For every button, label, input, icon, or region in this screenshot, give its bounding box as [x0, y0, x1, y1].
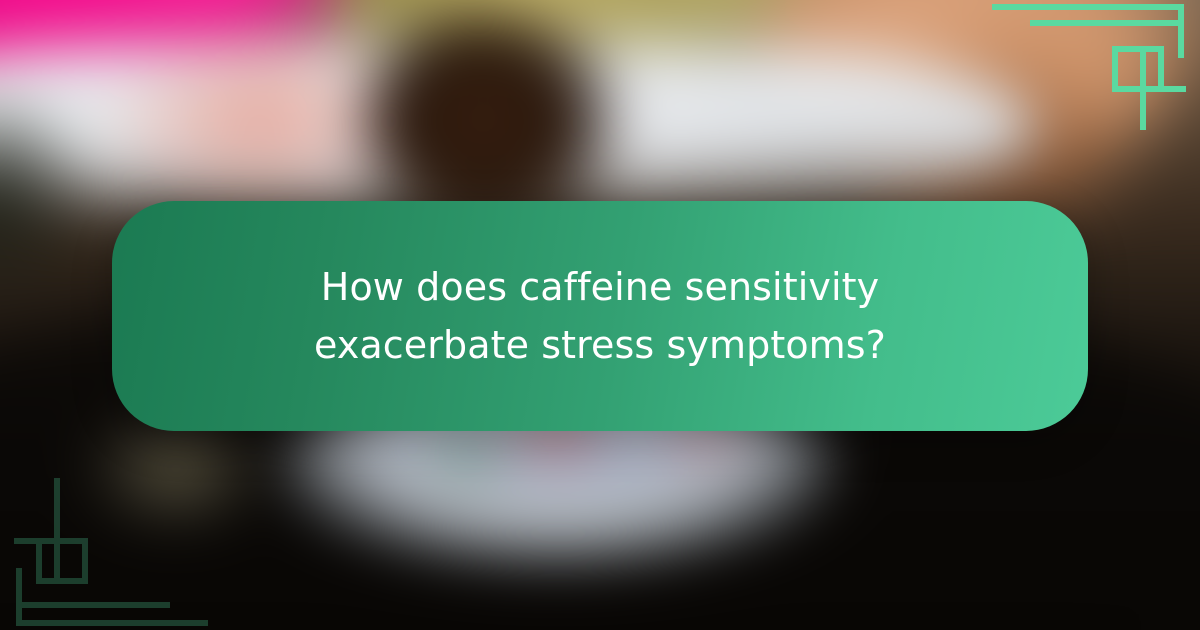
corner-square-bottom: [36, 578, 88, 584]
corner-elbow-horizontal: [1140, 86, 1186, 92]
corner-decoration-bottom-left: [0, 470, 230, 630]
question-text: How does caffeine sensitivity exacerbate…: [230, 258, 970, 374]
corner-square-left: [1112, 46, 1118, 92]
question-card: How does caffeine sensitivity exacerbate…: [112, 201, 1088, 431]
corner-square-top: [1112, 46, 1164, 52]
corner-line-vertical-drop: [54, 478, 60, 544]
corner-line-horizontal-outer: [992, 4, 1184, 10]
corner-line-horizontal-inner: [18, 602, 170, 608]
corner-elbow-vertical: [54, 538, 60, 584]
corner-square-left: [36, 538, 42, 584]
corner-square-right: [82, 538, 88, 584]
corner-line-vertical-outer: [16, 568, 22, 626]
corner-line-horizontal-inner: [1030, 20, 1182, 26]
corner-line-vertical-drop: [1140, 86, 1146, 130]
corner-line-vertical-outer: [1178, 4, 1184, 58]
screenshot-canvas: How does caffeine sensitivity exacerbate…: [0, 0, 1200, 630]
corner-decoration-top-right: [970, 0, 1200, 145]
corner-line-horizontal-outer: [16, 620, 208, 626]
